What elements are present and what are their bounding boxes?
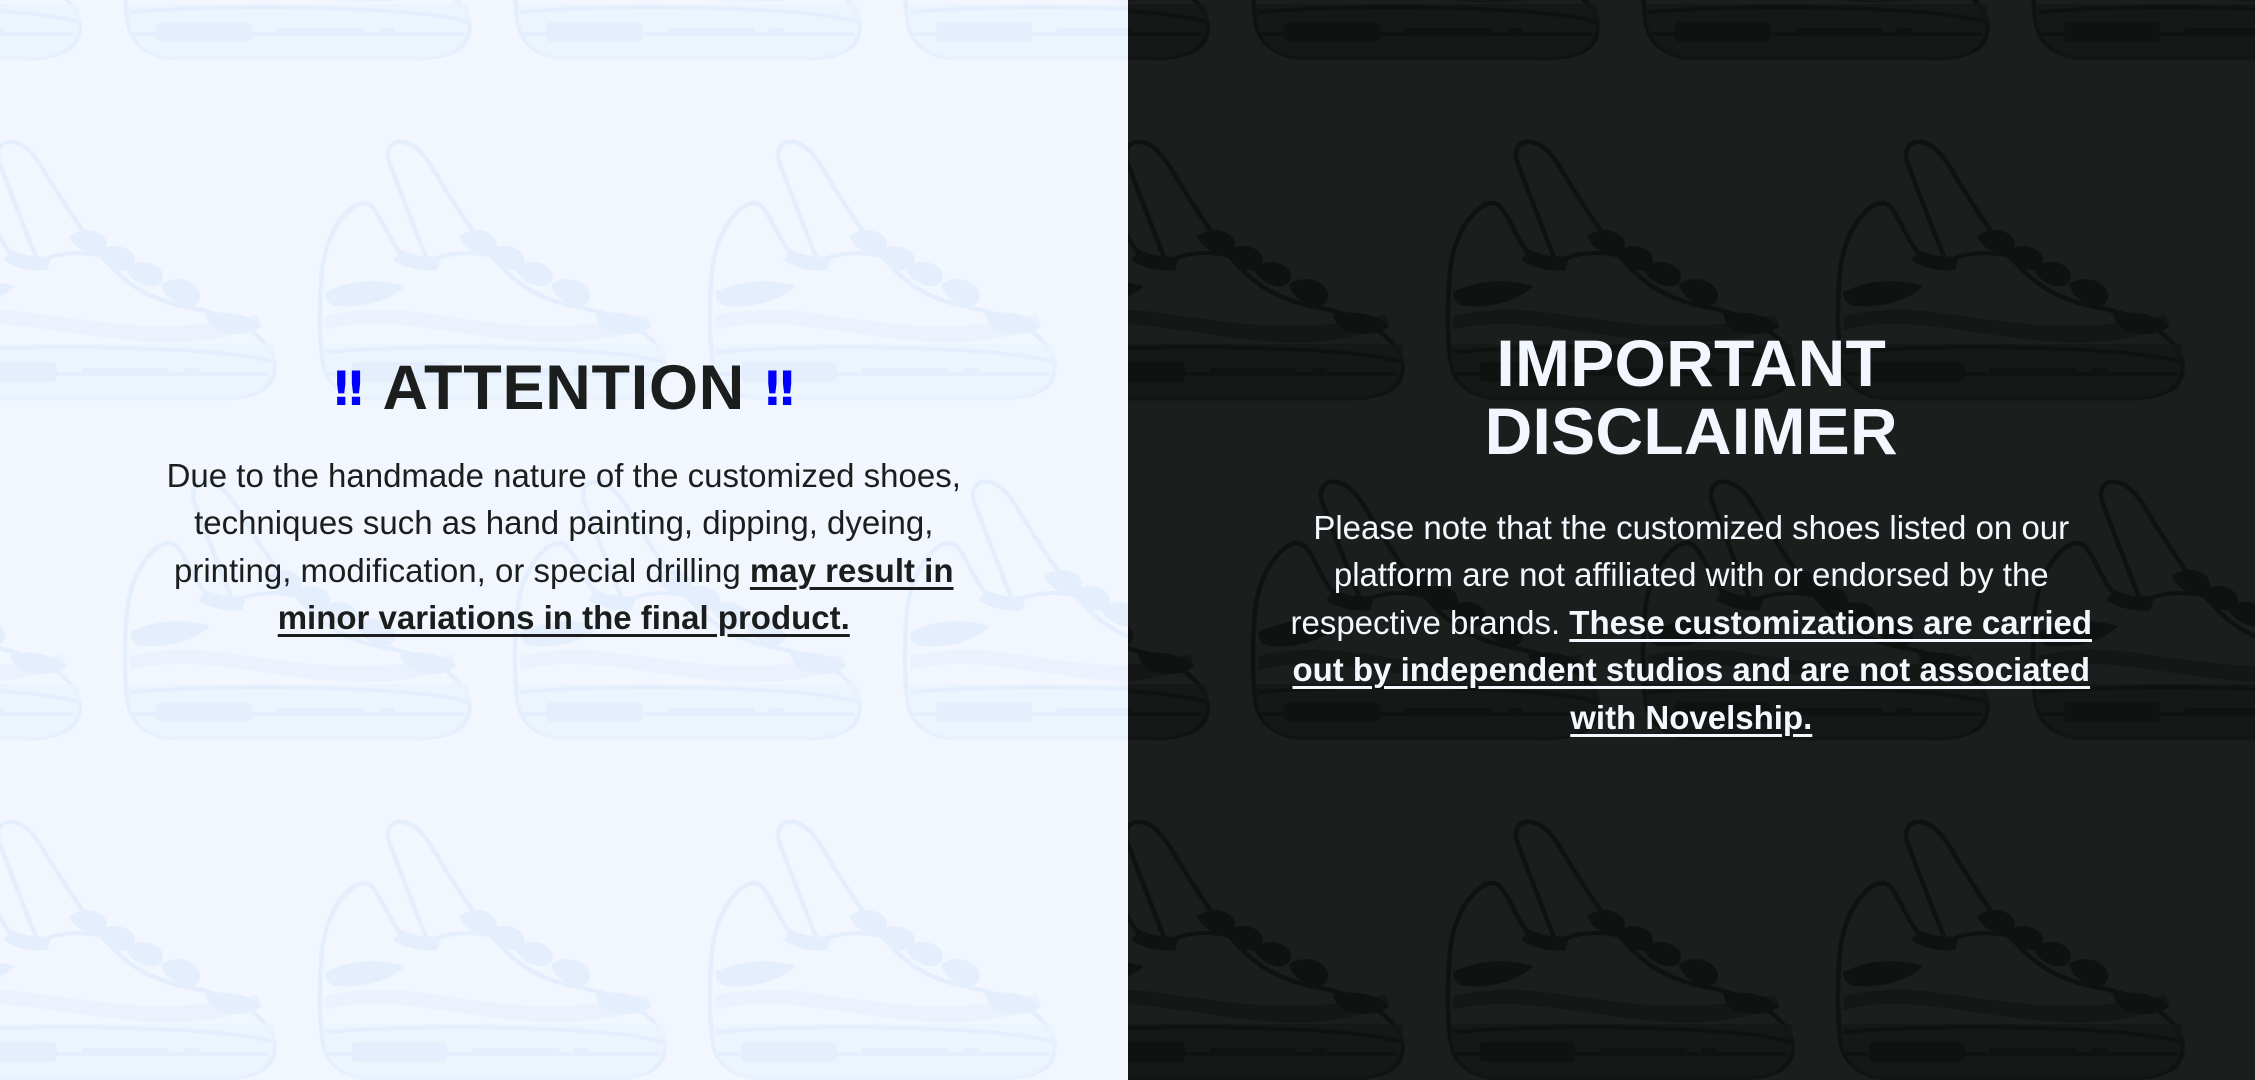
disclaimer-heading: IMPORTANT DISCLAIMER — [1485, 0, 1898, 466]
disclaimer-heading-line1: IMPORTANT — [1496, 326, 1886, 400]
attention-heading: ‼ATTENTION‼ — [328, 0, 800, 422]
disclaimer-panel: IMPORTANT DISCLAIMER Please note that th… — [1128, 0, 2255, 1080]
double-exclamation-icon-right: ‼ — [759, 362, 800, 417]
double-exclamation-icon-left: ‼ — [328, 362, 369, 417]
disclaimer-body: Please note that the customized shoes li… — [1281, 466, 2101, 742]
promo-banner: ‼ATTENTION‼ Due to the handmade nature o… — [0, 0, 2255, 1080]
disclaimer-heading-line2: DISCLAIMER — [1485, 394, 1898, 468]
attention-heading-word: ATTENTION — [368, 353, 759, 423]
attention-content: ‼ATTENTION‼ Due to the handmade nature o… — [0, 0, 1128, 642]
attention-body: Due to the handmade nature of the custom… — [164, 422, 964, 642]
disclaimer-content: IMPORTANT DISCLAIMER Please note that th… — [1128, 0, 2255, 742]
attention-panel: ‼ATTENTION‼ Due to the handmade nature o… — [0, 0, 1128, 1080]
